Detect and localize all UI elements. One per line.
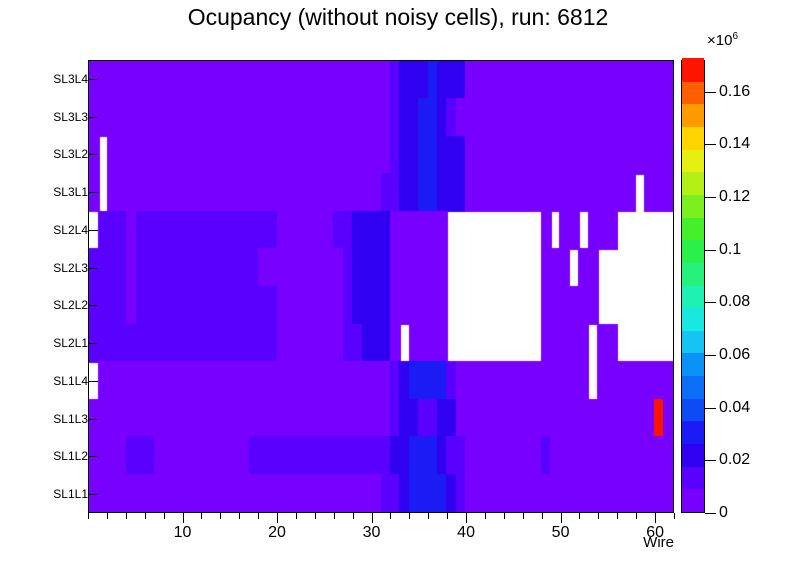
x-axis-minor-tick [409,513,410,519]
x-axis-major-tick [372,513,373,523]
y-axis-label-sl3l4: SL3L4 [4,72,88,86]
y-axis: SL3L4SL3L3SL3L2SL3L1SL2L4SL2L3SL2L2SL2L1… [0,60,88,513]
x-axis-minor-tick [598,513,599,519]
y-axis-label-sl3l1: SL3L1 [4,185,88,199]
y-axis-label-sl2l2: SL2L2 [4,298,88,312]
colorbar-band [682,353,704,376]
x-axis-minor-tick [523,513,524,519]
y-axis-tick [88,154,98,155]
y-axis-label-sl1l4: SL1L4 [4,374,88,388]
x-axis-minor-tick [542,513,543,519]
x-axis-minor-tick [239,513,240,519]
colorbar-tick-label-0: 0 [719,504,728,522]
colorbar-tick-label-0.06: 0.06 [719,346,750,364]
x-axis-tick-label-20: 20 [268,524,286,542]
colorbar-gradient [681,60,705,513]
x-axis: 102030405060 [88,513,674,559]
x-axis-tick-label-10: 10 [174,524,192,542]
colorbar[interactable]: 00.020.040.060.080.10.120.140.16 [681,60,705,513]
x-axis-major-tick [655,513,656,523]
x-axis-major-tick [466,513,467,523]
x-axis-minor-tick [107,513,108,519]
y-axis-tick [88,192,98,193]
y-axis-tick [88,381,98,382]
x-axis-title: Wire [643,534,674,551]
y-axis-tick [88,79,98,80]
x-axis-minor-tick [220,513,221,519]
heatmap-plot-area[interactable] [88,60,674,513]
x-axis-minor-tick [390,513,391,519]
x-axis-minor-tick [315,513,316,519]
colorbar-band [682,489,704,512]
colorbar-tick-label-0.1: 0.1 [719,241,741,259]
y-axis-label-sl3l2: SL3L2 [4,147,88,161]
x-axis-tick-label-40: 40 [457,524,475,542]
heatmap-canvas[interactable] [89,61,673,512]
x-axis-minor-tick [636,513,637,519]
y-axis-label-sl1l1: SL1L1 [4,487,88,501]
page-title: Ocupancy (without noisy cells), run: 681… [0,4,796,31]
x-axis-minor-tick [145,513,146,519]
colorbar-band [682,58,704,81]
x-axis-tick-label-30: 30 [363,524,381,542]
y-axis-label-sl2l3: SL2L3 [4,261,88,275]
colorbar-band [682,172,704,195]
x-axis-major-tick [561,513,562,523]
y-axis-tick [88,456,98,457]
colorbar-band [682,240,704,263]
colorbar-tick [705,144,716,145]
y-axis-label-sl1l2: SL1L2 [4,449,88,463]
colorbar-tick [705,513,716,514]
x-axis-minor-tick [296,513,297,519]
colorbar-band [682,104,704,127]
colorbar-tick-label-0.16: 0.16 [719,83,750,101]
x-axis-minor-tick [126,513,127,519]
y-axis-label-sl1l3: SL1L3 [4,412,88,426]
colorbar-band [682,443,704,466]
y-axis-label-sl2l1: SL2L1 [4,336,88,350]
colorbar-band [682,308,704,331]
x-axis-minor-tick [334,513,335,519]
colorbar-band [682,194,704,217]
colorbar-tick [705,302,716,303]
colorbar-tick [705,408,716,409]
colorbar-tick [705,197,716,198]
y-axis-tick [88,305,98,306]
colorbar-band [682,421,704,444]
colorbar-tick-label-0.02: 0.02 [719,451,750,469]
x-axis-tick-label-50: 50 [552,524,570,542]
colorbar-band [682,376,704,399]
colorbar-tick-label-0.08: 0.08 [719,293,750,311]
x-axis-major-tick [183,513,184,523]
root-canvas: Ocupancy (without noisy cells), run: 681… [0,0,796,572]
colorbar-band [682,126,704,149]
x-axis-minor-tick [617,513,618,519]
y-axis-tick [88,117,98,118]
y-axis-tick [88,343,98,344]
x-axis-minor-tick [485,513,486,519]
colorbar-exponent-label: ×106 [707,31,738,49]
y-axis-label-sl2l4: SL2L4 [4,223,88,237]
x-axis-minor-tick [579,513,580,519]
x-axis-minor-tick [447,513,448,519]
y-axis-tick [88,419,98,420]
x-axis-minor-tick [258,513,259,519]
colorbar-band [682,262,704,285]
colorbar-tick-label-0.12: 0.12 [719,188,750,206]
colorbar-band [682,81,704,104]
x-axis-minor-tick [353,513,354,519]
y-axis-tick [88,268,98,269]
colorbar-band [682,149,704,172]
colorbar-tick [705,355,716,356]
colorbar-tick-label-0.14: 0.14 [719,135,750,153]
colorbar-tick [705,92,716,93]
x-axis-minor-tick [164,513,165,519]
colorbar-band [682,285,704,308]
y-axis-tick [88,494,98,495]
colorbar-tick-label-0.04: 0.04 [719,399,750,417]
y-axis-label-sl3l3: SL3L3 [4,110,88,124]
x-axis-minor-tick [504,513,505,519]
x-axis-minor-tick [428,513,429,519]
colorbar-tick [705,460,716,461]
x-axis-minor-tick [88,513,89,519]
colorbar-band [682,217,704,240]
colorbar-tick [705,250,716,251]
y-axis-tick [88,230,98,231]
colorbar-band [682,330,704,353]
x-axis-major-tick [277,513,278,523]
x-axis-minor-tick [201,513,202,519]
x-axis-minor-tick [674,513,675,519]
colorbar-band [682,466,704,489]
colorbar-band [682,398,704,421]
